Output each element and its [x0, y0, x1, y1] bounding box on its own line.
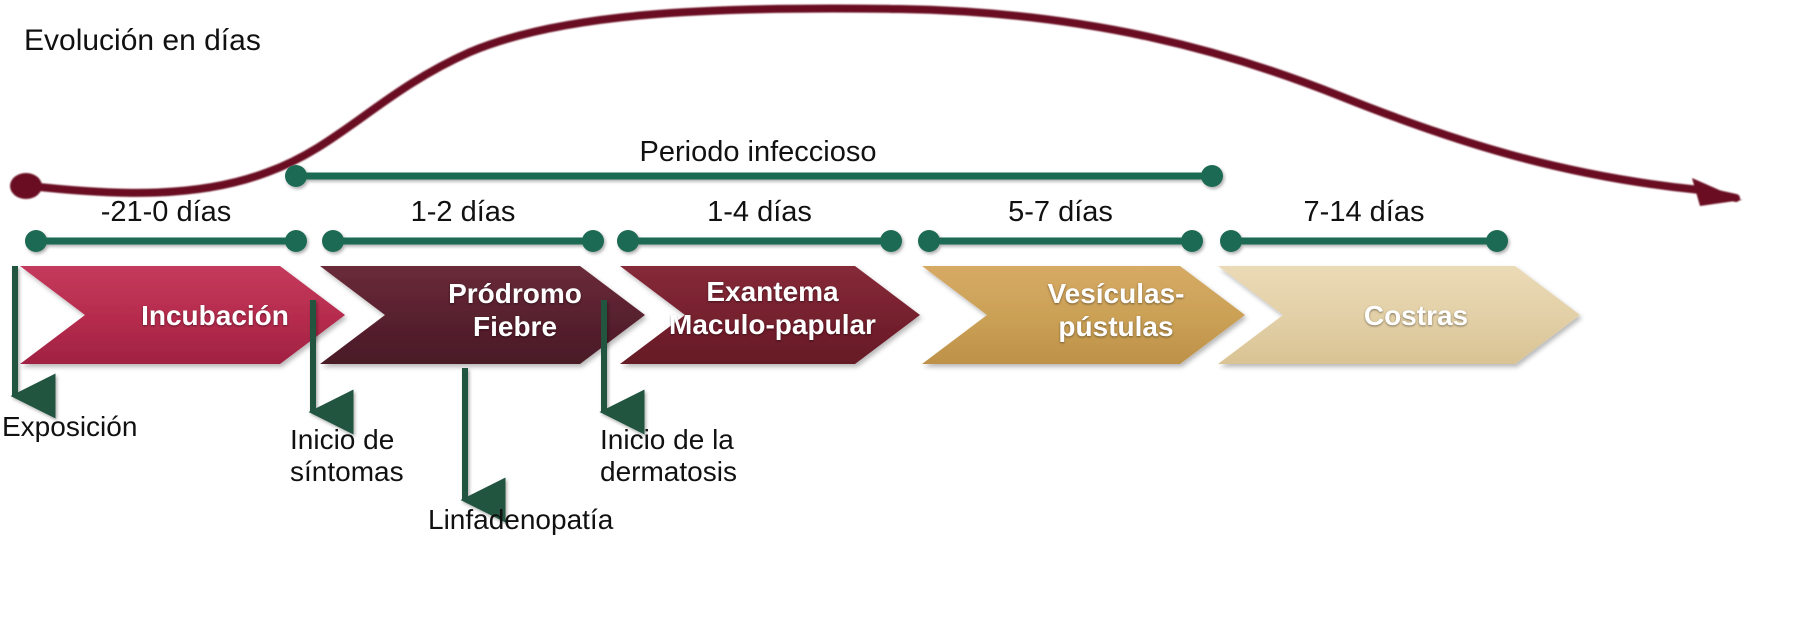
- callout-linfadenopatia: Linfadenopatía: [428, 504, 613, 536]
- callout-line-1: Linfadenopatía: [428, 504, 613, 536]
- chevron-vesiculas: [922, 266, 1245, 364]
- callout-line-2: síntomas: [290, 456, 404, 488]
- callout-inicio-dermatosis: Inicio de la dermatosis: [600, 424, 737, 488]
- callout-inicio-sintomas: Inicio de síntomas: [290, 424, 404, 488]
- duration-bar-1: [25, 230, 307, 252]
- duration-label-1: -21-0 días: [36, 196, 296, 229]
- duration-bar-5: [1220, 230, 1508, 252]
- duration-bar-3: [617, 230, 902, 252]
- duration-bar-4: [918, 230, 1203, 252]
- chevron-incubacion: [20, 266, 345, 364]
- phase-chevrons: [20, 266, 1580, 364]
- duration-label-5: 7-14 días: [1231, 196, 1497, 229]
- chevron-costras: [1218, 266, 1580, 364]
- duration-bar-2: [322, 230, 604, 252]
- stage-duration-bars: [25, 230, 1508, 252]
- duration-label-2: 1-2 días: [333, 196, 593, 229]
- callout-line-2: dermatosis: [600, 456, 737, 488]
- duration-label-3: 1-4 días: [628, 196, 891, 229]
- diagram-artwork: [0, 0, 1800, 620]
- callout-line-1: Inicio de la: [600, 424, 737, 456]
- callout-exposicion: Exposición: [2, 411, 137, 443]
- chevron-exantema: [620, 266, 920, 364]
- diagram-canvas: Evolución en días Periodo infeccioso -21…: [0, 0, 1800, 620]
- duration-label-4: 5-7 días: [929, 196, 1192, 229]
- page-title: Evolución en días: [24, 24, 261, 58]
- infectious-period-label: Periodo infeccioso: [0, 136, 1516, 168]
- chevron-prodromo: [320, 266, 645, 364]
- callout-line-1: Inicio de: [290, 424, 404, 456]
- callout-line-1: Exposición: [2, 411, 137, 443]
